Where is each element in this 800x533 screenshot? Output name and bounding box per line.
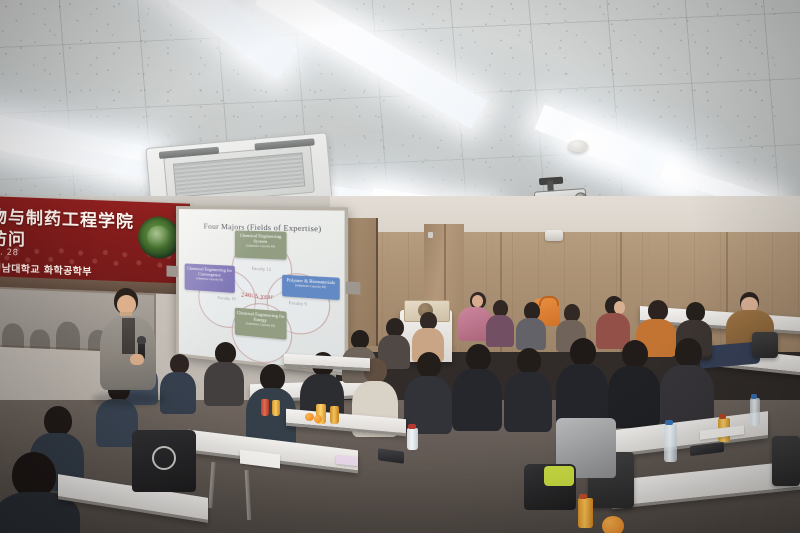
projection-screen: Four Majors (Fields of Expertise) Facult… xyxy=(176,206,348,376)
audience-member xyxy=(246,364,296,444)
audience-member xyxy=(452,344,502,426)
backpack-logo-icon xyxy=(152,446,176,470)
major-box-right: Polymer & Biomaterials (Admission Capaci… xyxy=(282,275,340,300)
orange-juice-bottle xyxy=(330,406,339,424)
audience-member xyxy=(486,300,514,346)
drink-can xyxy=(407,428,418,450)
yellow-bag-accent xyxy=(544,466,574,486)
head xyxy=(686,302,705,322)
lecture-hall-photo: 物与制药工程学院 访问 1. 28 영남대학교 화학공학부 Four Major… xyxy=(0,0,800,533)
audience-member xyxy=(504,348,552,428)
welcome-banner: 物与制药工程学院 访问 1. 28 영남대학교 화학공학부 xyxy=(0,196,190,286)
head xyxy=(517,348,541,374)
head xyxy=(622,340,648,368)
face xyxy=(472,295,483,307)
presenter xyxy=(96,288,158,398)
torso xyxy=(452,369,502,431)
wall-speaker xyxy=(545,230,563,241)
major-box-left: Chemical Engineering for Convergence (Ad… xyxy=(185,263,235,293)
drink-bottle xyxy=(261,399,269,416)
bottle-cap xyxy=(719,414,726,419)
faculty-label: Faculty 12 xyxy=(233,264,291,272)
water-bottle xyxy=(750,398,760,426)
chair-back xyxy=(752,332,778,358)
audience-member xyxy=(404,352,452,430)
presenter-shirt xyxy=(122,318,135,354)
audience-member xyxy=(608,340,660,424)
head xyxy=(215,342,236,364)
tangerine xyxy=(602,516,624,533)
ac-grill xyxy=(173,152,305,197)
chair-back xyxy=(772,436,800,486)
head xyxy=(260,364,285,391)
major-box-top: Chemical Engineering System (Admission C… xyxy=(235,230,287,259)
major-capacity: (Admission Capacity 60) xyxy=(236,244,286,249)
head xyxy=(170,354,189,374)
bottle-cap xyxy=(665,420,673,425)
torso xyxy=(608,366,660,428)
torso xyxy=(160,372,196,414)
head xyxy=(466,344,491,371)
screen-side-tab xyxy=(346,281,361,294)
tangerine xyxy=(314,415,322,423)
bottle-cap xyxy=(579,494,587,499)
head xyxy=(675,338,702,367)
head xyxy=(570,338,596,366)
torso xyxy=(504,372,552,432)
university-seal-icon xyxy=(138,216,180,260)
presenter-hand xyxy=(130,354,144,365)
tangerine xyxy=(305,413,314,421)
audience-member xyxy=(160,354,196,410)
banner-subtitle-korean: 영남대학교 화학공학부 xyxy=(0,259,92,278)
major-name: Chemical Engineering System xyxy=(236,233,286,246)
banner-title-line2: 访问 xyxy=(0,224,26,250)
ceiling xyxy=(0,0,800,215)
audience-member xyxy=(556,338,608,424)
audience-member xyxy=(660,338,714,424)
audience-member xyxy=(516,302,546,348)
banner-date: 1. 28 xyxy=(0,247,19,258)
torso xyxy=(486,315,514,347)
head xyxy=(417,352,441,378)
smoke-detector-icon xyxy=(568,140,588,152)
audience-member xyxy=(204,342,244,402)
torso xyxy=(204,362,244,406)
can-top xyxy=(408,424,416,429)
major-box-bottom: Chemical Engineering for Energy (Admissi… xyxy=(235,308,287,340)
drink-bottle xyxy=(272,400,280,416)
water-bottle xyxy=(664,424,677,462)
microphone-head xyxy=(137,336,146,344)
screen-side-tab xyxy=(167,266,178,278)
wall-sensor-icon xyxy=(428,232,433,238)
head xyxy=(44,406,72,436)
audience-shadow xyxy=(56,321,80,353)
orange-juice-bottle xyxy=(578,498,593,528)
head xyxy=(648,300,668,321)
torso xyxy=(516,318,546,350)
bottle-cap xyxy=(751,394,757,399)
presenter-shadow xyxy=(92,392,166,406)
